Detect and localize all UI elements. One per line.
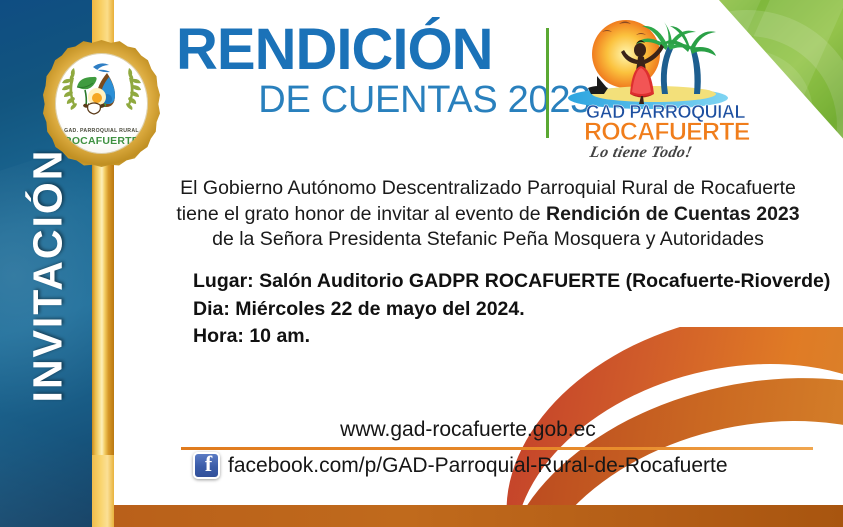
event-time: Hora: 10 am.: [193, 323, 833, 351]
invitation-poster: INVITACIÓN RENDICIÓN DE CUENTAS 2023: [0, 0, 843, 527]
seal-inner-disc: GAD. PARROQUIAL RURAL ROCAFUERTE: [55, 53, 148, 154]
event-place: Lugar: Salón Auditorio GADPR ROCAFUERTE …: [193, 268, 833, 296]
body-line-1: El Gobierno Autónomo Descentralizado Par…: [138, 176, 838, 202]
institutional-seal-icon: [55, 57, 148, 123]
gold-band-bottom-segment: [92, 455, 114, 527]
website-url[interactable]: www.gad-rocafuerte.gob.ec: [138, 418, 798, 442]
body-line-3: de la Señora Presidenta Stefanic Peña Mo…: [138, 227, 838, 253]
invitation-body-text: El Gobierno Autónomo Descentralizado Par…: [138, 176, 838, 253]
facebook-glyph: f: [195, 451, 222, 477]
facebook-url[interactable]: facebook.com/p/GAD-Parroquial-Rural-de-R…: [228, 454, 728, 478]
seal-label-line2: ROCAFUERTE: [55, 135, 148, 147]
page-title-line1: RENDICIÓN: [176, 22, 591, 79]
footer-orange-rule: [181, 447, 813, 450]
institutional-seal: GAD. PARROQUIAL RURAL ROCAFUERTE: [43, 40, 160, 167]
body-line-2-prefix: tiene el grato honor de invitar al event…: [176, 203, 546, 225]
bottom-orange-bar: [114, 505, 843, 527]
facebook-link-row[interactable]: f facebook.com/p/GAD-Parroquial-Rural-de…: [193, 452, 728, 479]
seal-label-line1: GAD. PARROQUIAL RURAL: [55, 128, 148, 134]
page-title-line2: DE CUENTAS 2023: [176, 81, 591, 121]
gad-parroquial-logo: GAD PARROQUIAL ROCAFUERTE Lo tiene Todo!: [564, 8, 754, 173]
logo-tagline: Lo tiene Todo!: [588, 144, 762, 162]
logo-word-rocafuerte: ROCAFUERTE: [584, 118, 754, 147]
event-details-block: Lugar: Salón Auditorio GADPR ROCAFUERTE …: [193, 268, 833, 351]
facebook-icon[interactable]: f: [193, 452, 220, 479]
content-panel: RENDICIÓN DE CUENTAS 2023: [114, 0, 843, 527]
title-block: RENDICIÓN DE CUENTAS 2023: [176, 22, 591, 121]
body-line-2: tiene el grato honor de invitar al event…: [138, 202, 838, 228]
event-date: Dia: Miércoles 22 de mayo del 2024.: [193, 296, 833, 324]
island-palm-dancer-icon: [564, 8, 754, 116]
body-line-2-emphasis: Rendición de Cuentas 2023: [546, 203, 800, 225]
title-green-divider: [546, 28, 549, 138]
